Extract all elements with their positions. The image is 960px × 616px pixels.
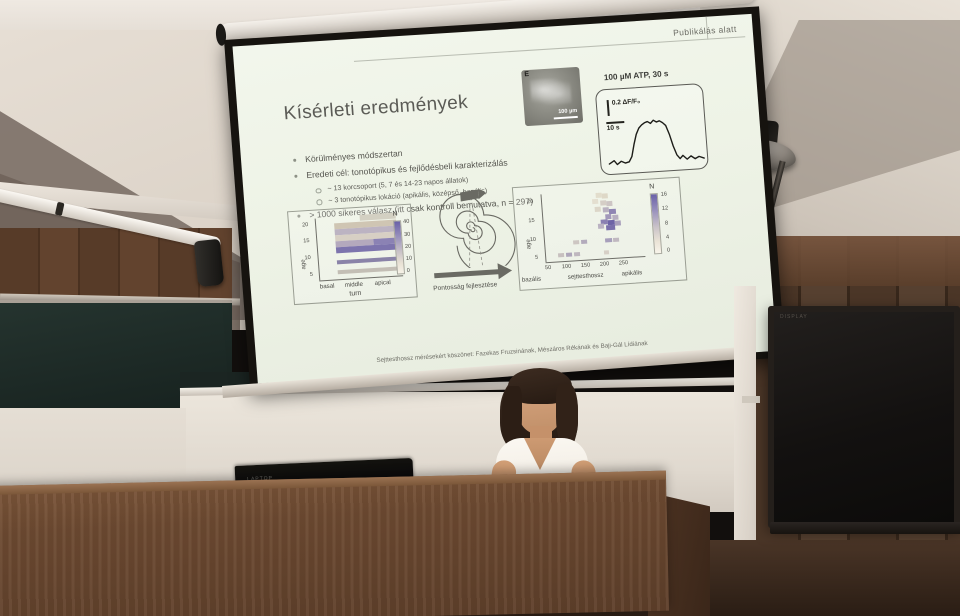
display-brand-label: DISPLAY xyxy=(780,314,808,320)
display-screen xyxy=(774,312,954,522)
left-chart-legend-tick: 10 xyxy=(406,256,413,262)
micrograph-image: E 100 µm xyxy=(521,67,583,126)
pipe-band xyxy=(55,202,65,216)
left-chart-legend-tick: 0 xyxy=(407,268,411,274)
right-chart-legend-tick: 4 xyxy=(666,234,670,240)
slide-header-note: Publikálás alatt xyxy=(673,24,737,38)
projection-screen-surface: Publikálás alatt Kísérleti eredmények Kö… xyxy=(233,14,777,384)
right-chart-legend-tick: 12 xyxy=(662,205,669,211)
right-chart-xtick: 150 xyxy=(581,262,591,269)
display-bottom-bar xyxy=(770,522,960,534)
right-chart-xtick: 50 xyxy=(545,265,552,271)
right-chart-ytick: 5 xyxy=(535,255,539,261)
right-chart-legend-title: N xyxy=(649,183,655,190)
right-chart-xtick: 250 xyxy=(619,260,629,267)
right-chart-x-right-label: apikális xyxy=(621,269,642,277)
right-wood-paneling-top xyxy=(752,236,960,286)
right-chart-legend-tick: 16 xyxy=(661,191,668,197)
spiral-diagram-caption: Pontosság fejlesztése xyxy=(433,281,498,292)
micrograph-scale-bar xyxy=(554,116,578,120)
left-chart-legend-tick: 40 xyxy=(403,219,410,225)
wall-pillar xyxy=(734,286,756,546)
right-chart-heatmap-cells xyxy=(541,186,646,262)
left-chart-legend-tick: 20 xyxy=(405,244,412,250)
presentation-slide: Publikálás alatt Kísérleti eredmények Kö… xyxy=(233,14,777,384)
left-chart-ytick: 15 xyxy=(303,238,310,244)
left-chart-legend-title: N xyxy=(392,210,398,217)
micrograph-scale-label: 100 µm xyxy=(558,108,578,115)
header-rule xyxy=(354,36,745,62)
right-chart-legend-tick: 8 xyxy=(665,220,669,226)
atp-y-scale-label: 0.2 ΔF/F₀ xyxy=(612,98,641,107)
left-chart-xtick: basal xyxy=(320,283,335,291)
chart-age-vs-turn: age 20 15 10 5 xyxy=(287,204,418,306)
lectern-podium xyxy=(0,471,669,616)
wall-sign xyxy=(742,396,760,403)
atp-trace-panel: 0.2 ΔF/F₀ 10 s xyxy=(595,83,709,176)
lecture-hall-photo: Publikálás alatt Kísérleti eredmények Kö… xyxy=(0,0,960,616)
right-chart-x-left-label: bazális xyxy=(522,276,542,284)
cochlea-spiral-diagram: Pontosság fejlesztése xyxy=(424,187,525,312)
left-chart-xtick: middle xyxy=(344,281,363,289)
chart-age-vs-cell-length: age 20 15 10 5 xyxy=(512,177,687,291)
right-chart-colorbar xyxy=(650,193,663,254)
left-chart-legend-tick: 30 xyxy=(404,232,411,238)
spiral-svg xyxy=(424,187,522,271)
progress-arrow-head xyxy=(498,262,513,279)
podium-wood-grain xyxy=(0,480,669,616)
right-chart-ytick: 20 xyxy=(527,199,534,205)
atp-stimulus-label: 100 µM ATP, 30 s xyxy=(604,69,669,82)
wall-display-monitor[interactable]: DISPLAY xyxy=(768,306,960,528)
left-chart-xlabel: turn xyxy=(349,290,362,298)
right-chart-legend-tick: 0 xyxy=(667,247,671,253)
micrograph-panel-letter: E xyxy=(524,71,529,78)
left-chart-xtick: apical xyxy=(374,279,391,287)
left-chart-ytick: 5 xyxy=(310,272,314,278)
projection-screen: Publikálás alatt Kísérleti eredmények Kö… xyxy=(224,6,785,391)
progress-arrow-shaft xyxy=(434,269,500,278)
wall-speaker-left xyxy=(194,239,225,287)
left-chart-ytick: 20 xyxy=(302,222,309,228)
left-chart-ytick: 10 xyxy=(304,255,311,261)
right-chart-xlabel: sejttesthossz xyxy=(568,272,604,281)
atp-calcium-trace-curve xyxy=(601,106,709,174)
slide-title: Kísérleti eredmények xyxy=(283,92,469,126)
right-chart-xtick: 200 xyxy=(600,261,610,268)
right-chart-ytick: 10 xyxy=(530,237,537,243)
left-chart-heatmap-cells xyxy=(317,211,402,280)
right-chart-ytick: 15 xyxy=(528,218,535,224)
right-chart-xtick: 100 xyxy=(562,264,572,271)
